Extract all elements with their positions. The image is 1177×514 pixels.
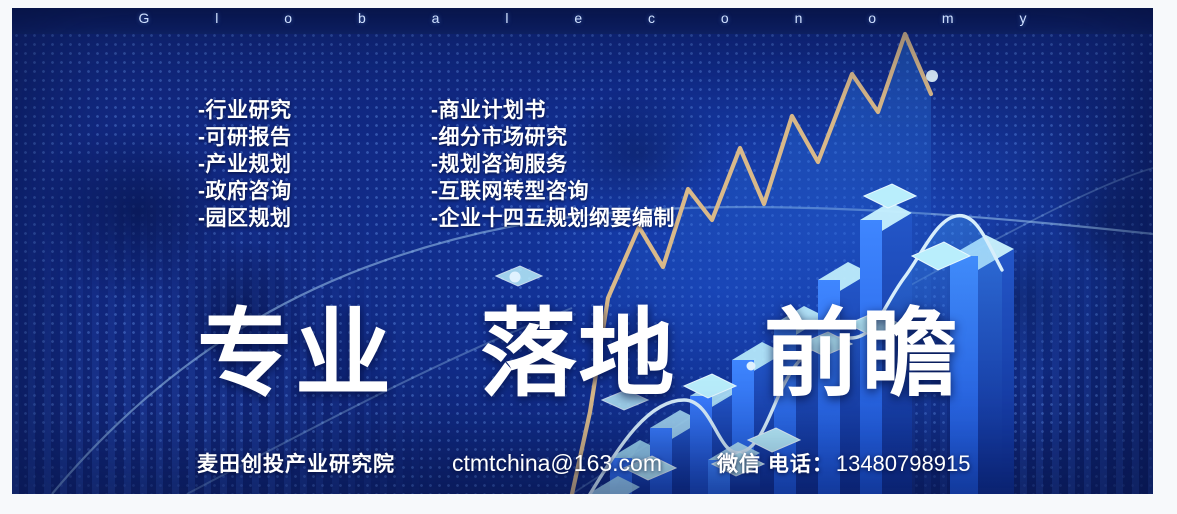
headline-slogan: 专业 落地 前瞻 [197, 305, 960, 405]
service-item: -行业研究 [198, 97, 292, 124]
service-item: -产业规划 [198, 151, 292, 178]
global-economy-label: G l o b a l e c o n o m y [12, 10, 1153, 26]
promo-banner: G l o b a l e c o n o m y -行业研究 -可研报告 -产… [12, 8, 1153, 494]
service-item: -互联网转型咨询 [431, 178, 675, 205]
contact-email[interactable]: ctmtchina@163.com [452, 450, 662, 477]
contact-phone[interactable]: 13480798915 [836, 451, 971, 477]
headline-word-1: 专业 [197, 301, 393, 408]
wechat-phone-label: 微信 电话： [717, 448, 834, 478]
footer-contact-bar: 麦田创投产业研究院 ctmtchina@163.com 微信 电话： 13480… [197, 448, 970, 478]
headline-word-2: 落地 [480, 301, 676, 408]
service-item: -细分市场研究 [431, 124, 675, 151]
headline-word-3: 前瞻 [764, 301, 960, 408]
service-item: -政府咨询 [198, 178, 292, 205]
service-list-left: -行业研究 -可研报告 -产业规划 -政府咨询 -园区规划 [198, 97, 292, 232]
service-item: -规划咨询服务 [431, 151, 675, 178]
organization-name: 麦田创投产业研究院 [197, 448, 395, 478]
service-item: -园区规划 [198, 205, 292, 232]
service-item: -企业十四五规划纲要编制 [431, 205, 675, 232]
service-item: -可研报告 [198, 124, 292, 151]
service-item: -商业计划书 [431, 97, 675, 124]
economy-chart [12, 8, 1153, 494]
service-list-right: -商业计划书 -细分市场研究 -规划咨询服务 -互联网转型咨询 -企业十四五规划… [431, 97, 675, 232]
